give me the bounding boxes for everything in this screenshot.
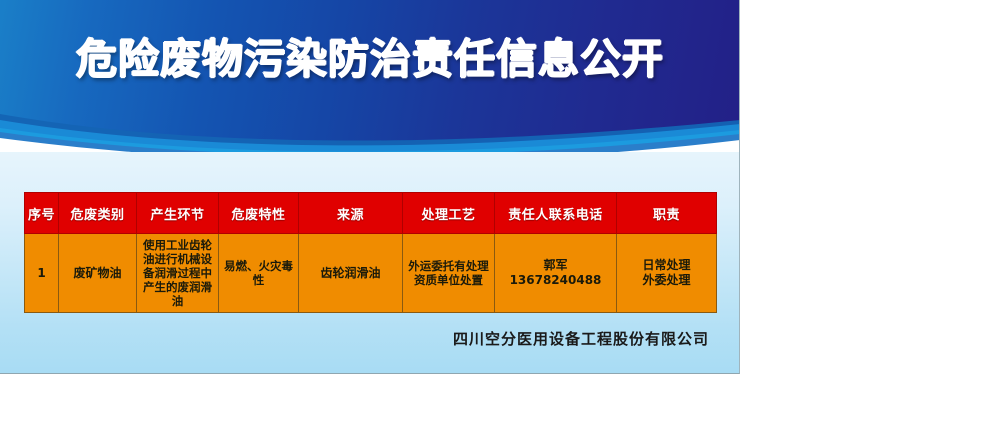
- column-header-index: 序号: [25, 193, 59, 234]
- column-header-contact: 责任人联系电话: [495, 193, 617, 234]
- contact-phone-number: 13678240488: [497, 273, 614, 288]
- company-name: 四川空分医用设备工程股份有限公司: [453, 328, 709, 349]
- page-title: 危险废物污染防治责任信息公开: [0, 38, 740, 81]
- banner-swoosh-decoration: [0, 80, 740, 152]
- column-header-category: 危废类别: [59, 193, 137, 234]
- banner-header: 危险废物污染防治责任信息公开: [0, 0, 740, 152]
- column-header-property: 危废特性: [219, 193, 299, 234]
- cell-process: 外运委托有处理资质单位处置: [403, 234, 495, 313]
- column-header-source: 来源: [299, 193, 403, 234]
- duty-line-1: 日常处理: [619, 258, 714, 273]
- cell-contact: 郭军 13678240488: [495, 234, 617, 313]
- information-board: 危险废物污染防治责任信息公开 序号 危废类别 产生环节 危废特性 来源 处理工艺…: [0, 0, 740, 374]
- cell-category: 废矿物油: [59, 234, 137, 313]
- contact-person-name: 郭军: [497, 258, 614, 273]
- column-header-process: 处理工艺: [403, 193, 495, 234]
- cell-index: 1: [25, 234, 59, 313]
- table-row: 1 废矿物油 使用工业齿轮油进行机械设备润滑过程中产生的废润滑油 易燃、火灾毒性…: [25, 234, 717, 313]
- duty-line-2: 外委处理: [619, 273, 714, 288]
- column-header-stage: 产生环节: [137, 193, 219, 234]
- table-header-row: 序号 危废类别 产生环节 危废特性 来源 处理工艺 责任人联系电话 职责: [25, 193, 717, 234]
- cell-property: 易燃、火灾毒性: [219, 234, 299, 313]
- cell-source: 齿轮润滑油: [299, 234, 403, 313]
- cell-stage: 使用工业齿轮油进行机械设备润滑过程中产生的废润滑油: [137, 234, 219, 313]
- column-header-duty: 职责: [617, 193, 717, 234]
- cell-duty: 日常处理 外委处理: [617, 234, 717, 313]
- hazardous-waste-table: 序号 危废类别 产生环节 危废特性 来源 处理工艺 责任人联系电话 职责 1 废…: [24, 192, 717, 313]
